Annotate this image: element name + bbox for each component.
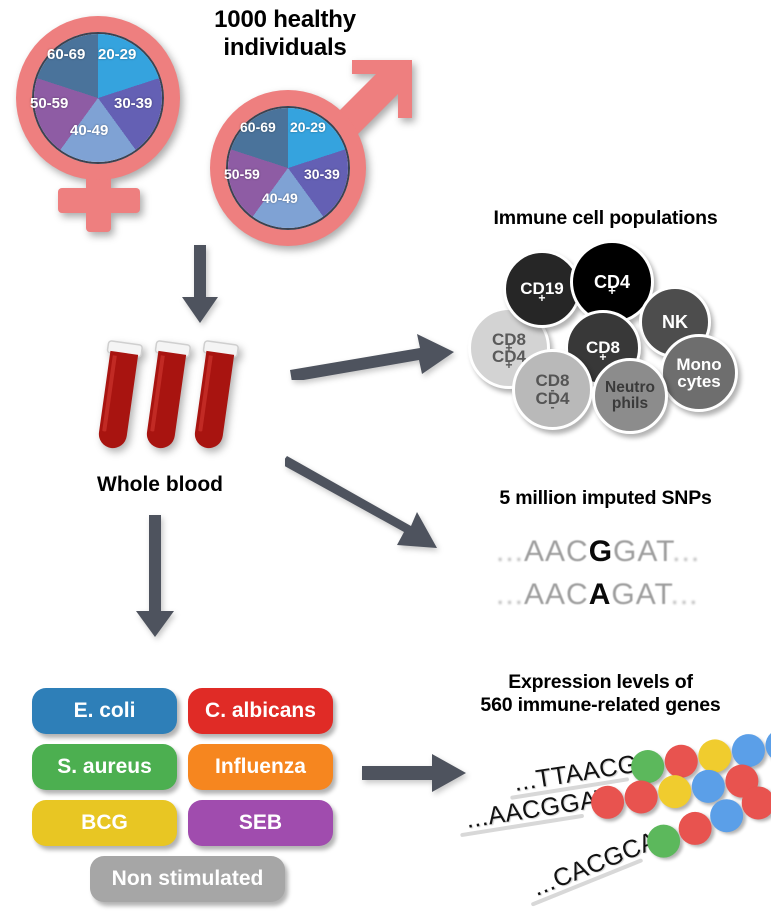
snp-variant-allele: A bbox=[589, 578, 612, 611]
stimulus-label: BCG bbox=[81, 811, 128, 835]
arrow-cohort-to-blood bbox=[178, 245, 222, 325]
stimulus-s-aureus[interactable]: S. aureus bbox=[32, 744, 177, 790]
cell-label-line-2: cytes bbox=[676, 373, 721, 390]
snp-suffix: ... bbox=[671, 578, 699, 611]
stimulus-label: S. aureus bbox=[57, 755, 152, 779]
blood-tubes-icon bbox=[95, 335, 255, 470]
cell-label-line-2: phils bbox=[605, 396, 655, 412]
pie-label-20-29: 20-29 bbox=[98, 46, 136, 63]
pie-label-60-69: 60-69 bbox=[47, 46, 85, 63]
stimulus-label: SEB bbox=[239, 811, 282, 835]
cell-label: CD4+ bbox=[594, 273, 630, 291]
cell-label: CD8+ bbox=[586, 339, 620, 356]
cell-label-line-1: CD8- bbox=[535, 372, 569, 389]
arrow-blood-to-snps bbox=[285, 450, 445, 555]
stimulus-influenza[interactable]: Influenza bbox=[188, 744, 333, 790]
cell-label: CD19+ bbox=[520, 280, 563, 297]
section-title-snps: 5 million imputed SNPs bbox=[440, 487, 771, 510]
snp-variant-allele: G bbox=[589, 535, 613, 568]
arrow-blood-to-immune bbox=[288, 330, 458, 380]
stimulus-label: E. coli bbox=[74, 699, 136, 723]
cell-label-line-1: Mono bbox=[676, 356, 721, 373]
snp-prefix: ... bbox=[496, 578, 524, 611]
cell-label-line-1: CD8+ bbox=[492, 331, 526, 348]
section-title-immune-cells: Immune cell populations bbox=[440, 207, 771, 230]
expression-title-line-2: 560 immune-related genes bbox=[430, 694, 771, 717]
stimulus-label: C. albicans bbox=[205, 699, 316, 723]
pie-label-40-49: 40-49 bbox=[262, 190, 298, 206]
label-whole-blood: Whole blood bbox=[60, 473, 260, 497]
bead bbox=[696, 737, 734, 775]
stimulus-seb[interactable]: SEB bbox=[188, 800, 333, 846]
stimulus-c-albicans[interactable]: C. albicans bbox=[188, 688, 333, 734]
snp-sequence-row-1: ...AACGGAT... bbox=[496, 535, 700, 569]
pie-label-20-29: 20-29 bbox=[290, 119, 326, 135]
arrow-stimuli-to-expression bbox=[360, 752, 470, 794]
pie-label-50-59: 50-59 bbox=[224, 166, 260, 182]
snp-right: GAT bbox=[613, 535, 672, 568]
section-title-expression: Expression levels of 560 immune-related … bbox=[430, 671, 771, 717]
snp-right: GAT bbox=[611, 578, 670, 611]
cell-cd8neg-cd4neg: CD8- CD4- bbox=[512, 349, 593, 430]
stimulus-label: Non stimulated bbox=[112, 867, 264, 891]
bead bbox=[730, 732, 768, 770]
snp-left: AAC bbox=[524, 578, 589, 611]
cell-monocytes: Mono cytes bbox=[660, 334, 738, 412]
stimulus-e-coli[interactable]: E. coli bbox=[32, 688, 177, 734]
bead bbox=[662, 742, 700, 780]
stimulus-non-stimulated[interactable]: Non stimulated bbox=[90, 856, 285, 902]
pie-label-60-69: 60-69 bbox=[240, 119, 276, 135]
stimulus-bcg[interactable]: BCG bbox=[32, 800, 177, 846]
arrow-blood-to-stimuli bbox=[130, 515, 180, 640]
pie-label-30-39: 30-39 bbox=[114, 95, 152, 112]
cell-cd19pos: CD19+ bbox=[503, 250, 581, 328]
cell-label: NK bbox=[662, 313, 688, 331]
snp-left: AAC bbox=[524, 535, 589, 568]
pie-label-50-59: 50-59 bbox=[30, 95, 68, 112]
snp-prefix: ... bbox=[496, 535, 524, 568]
snp-suffix: ... bbox=[672, 535, 700, 568]
cell-label-line-1: Neutro bbox=[605, 380, 655, 396]
stimulus-label: Influenza bbox=[215, 755, 306, 779]
cell-label-line-2: CD4- bbox=[535, 390, 569, 407]
diagram-canvas: 1000 healthy individuals 20-29 30-39 40-… bbox=[0, 0, 771, 922]
pie-label-40-49: 40-49 bbox=[70, 122, 108, 139]
snp-sequence-row-2: ...AACAGAT... bbox=[496, 578, 699, 612]
expression-title-line-1: Expression levels of bbox=[430, 671, 771, 694]
pie-label-30-39: 30-39 bbox=[304, 166, 340, 182]
cell-neutrophils: Neutro phils bbox=[592, 358, 668, 434]
